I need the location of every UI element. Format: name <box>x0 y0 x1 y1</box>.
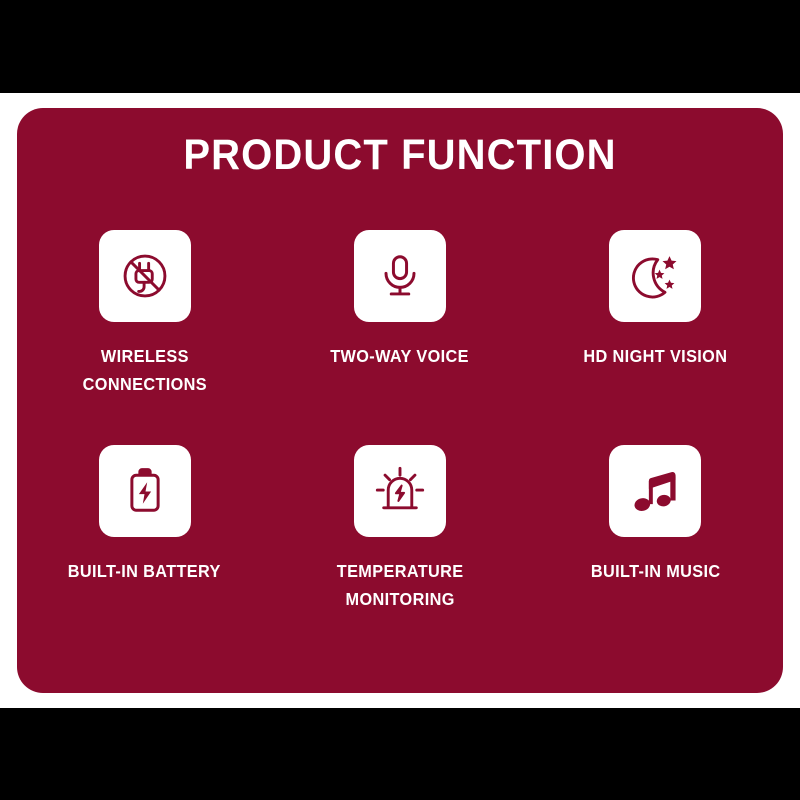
feature-icon-tile <box>354 445 446 537</box>
feature-label-line1: HD NIGHT VISION <box>583 346 727 366</box>
feature-label-line1: TEMPERATURE <box>337 561 464 581</box>
music-note-icon <box>627 463 683 519</box>
feature-wireless-connections[interactable]: WIRELESS CONNECTIONS <box>17 230 272 445</box>
feature-icon-tile <box>99 230 191 322</box>
feature-two-way-voice[interactable]: TWO-WAY VOICE <box>272 230 527 445</box>
product-function-card: PRODUCT FUNCTION WIRELESS CONNEC <box>17 108 783 693</box>
feature-icon-tile <box>609 445 701 537</box>
feature-label: TWO-WAY VOICE <box>331 342 470 370</box>
no-power-plug-icon <box>116 247 174 305</box>
feature-built-in-music[interactable]: BUILT-IN MUSIC <box>528 445 783 660</box>
feature-temperature-monitoring[interactable]: TEMPERATURE MONITORING <box>272 445 527 660</box>
page-title: PRODUCT FUNCTION <box>44 130 756 180</box>
microphone-icon <box>372 248 428 304</box>
feature-label-line2: MONITORING <box>345 589 454 609</box>
feature-label-line2: CONNECTIONS <box>82 374 206 394</box>
feature-label: HD NIGHT VISION <box>583 342 727 370</box>
feature-label: BUILT-IN MUSIC <box>590 557 720 585</box>
feature-grid: WIRELESS CONNECTIONS TWO-WAY VOICE <box>17 230 783 660</box>
moon-stars-icon <box>626 247 684 305</box>
feature-hd-night-vision[interactable]: HD NIGHT VISION <box>528 230 783 445</box>
feature-label-line1: WIRELESS <box>101 346 189 366</box>
feature-icon-tile <box>354 230 446 322</box>
feature-built-in-battery[interactable]: BUILT-IN BATTERY <box>17 445 272 660</box>
battery-bolt-icon <box>117 463 173 519</box>
feature-label-line1: TWO-WAY VOICE <box>331 346 470 366</box>
feature-label: WIRELESS CONNECTIONS <box>82 342 206 398</box>
feature-label: BUILT-IN BATTERY <box>68 557 221 585</box>
alarm-siren-bolt-icon <box>371 462 429 520</box>
feature-label-line1: BUILT-IN BATTERY <box>68 561 221 581</box>
feature-label: TEMPERATURE MONITORING <box>337 557 464 613</box>
screenshot-stage: PRODUCT FUNCTION WIRELESS CONNEC <box>0 0 800 800</box>
feature-icon-tile <box>99 445 191 537</box>
feature-icon-tile <box>609 230 701 322</box>
feature-label-line1: BUILT-IN MUSIC <box>590 561 720 581</box>
